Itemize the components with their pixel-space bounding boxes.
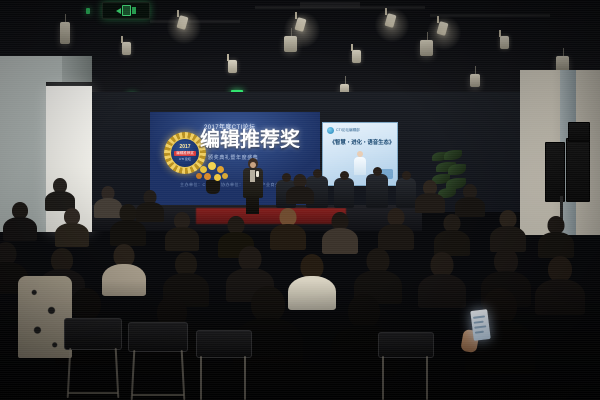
folding-chair[interactable] — [128, 322, 190, 400]
banner-headline: 编辑推荐奖 — [200, 130, 320, 150]
hanging-light-fixture — [470, 74, 480, 87]
screen-org-label: CTI论坛编辑部 — [336, 128, 360, 133]
medal-label: 编辑推荐奖 — [174, 151, 196, 156]
ceiling-beam — [300, 2, 360, 8]
folding-chair[interactable] — [64, 318, 124, 398]
conference-hall-photo: 2017 编辑推荐奖 CTI 论坛 2017年度CTI论坛 编辑推荐奖 颁奖典礼… — [0, 0, 600, 400]
exit-sign-bar — [132, 7, 136, 14]
hanging-light-fixture — [420, 40, 433, 56]
exit-sign-ceiling-left — [102, 2, 150, 19]
running-man-icon — [122, 5, 131, 16]
ceiling-beam — [150, 20, 240, 23]
screen-header: CTI论坛编辑部 — [327, 127, 360, 134]
folding-chair[interactable] — [196, 330, 254, 400]
smartphone-screen — [470, 309, 491, 341]
hanging-light-fixture — [284, 36, 297, 52]
folding-chair[interactable] — [378, 332, 436, 400]
screen-title: 《智慧・进化・语音生态》 — [329, 138, 395, 146]
hanging-light-fixture — [60, 22, 70, 44]
exit-sign-far-left — [86, 8, 90, 14]
medal-sub: CTI 论坛 — [179, 157, 191, 161]
arrow-left-icon — [116, 8, 121, 14]
pa-speaker-top — [568, 122, 590, 142]
medal-year: 2017 — [179, 145, 190, 150]
ceiling-beam — [430, 14, 550, 17]
organization-logo-icon — [327, 127, 334, 134]
